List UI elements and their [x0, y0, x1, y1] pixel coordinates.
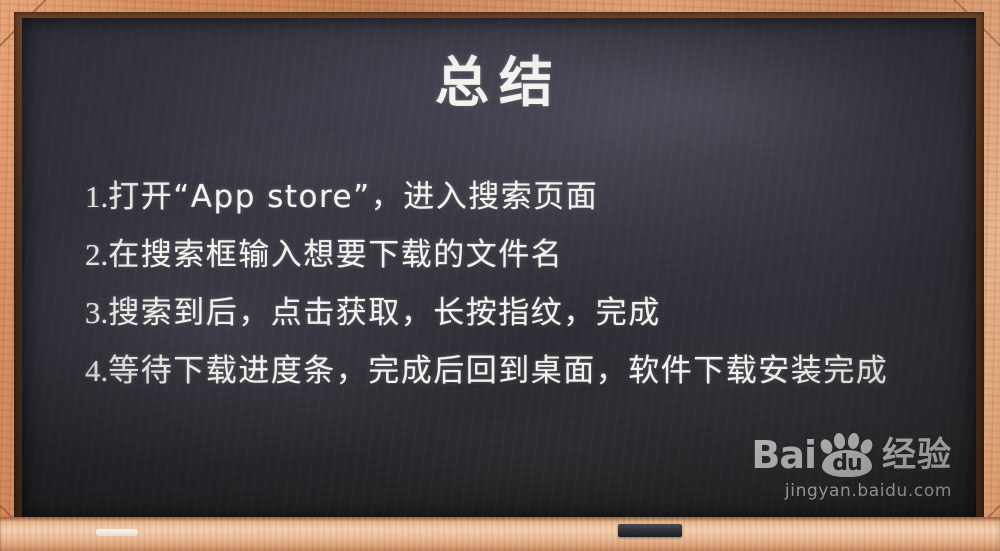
baidu-logo: Bai du 经验 — [751, 432, 952, 478]
chalk-stick — [96, 529, 138, 536]
list-item: 2.在搜索框输入想要下载的文件名 — [85, 226, 952, 284]
watermark-url: jingyan.baidu.com — [751, 481, 952, 501]
paw-print-icon: du — [818, 432, 876, 478]
list-item-text: 打开“App store”，进入搜索页面 — [108, 179, 598, 215]
baidu-jingyan-watermark: Bai du 经验 jingyan.baidu.com — [751, 432, 952, 501]
blackboard-eraser — [618, 524, 682, 537]
list-item-index: 4. — [85, 353, 108, 388]
list-item-index: 2. — [85, 237, 108, 272]
list-item-text: 搜索到后，点击获取，长按指纹，完成 — [108, 295, 661, 331]
paw-toe-icon — [833, 432, 846, 449]
list-item-index: 3. — [85, 295, 108, 330]
summary-step-list: 1.打开“App store”，进入搜索页面 2.在搜索框输入想要下载的文件名 … — [85, 168, 952, 400]
chalkboard-slide: 总结 1.打开“App store”，进入搜索页面 2.在搜索框输入想要下载的文… — [0, 0, 1000, 551]
page-title: 总结 — [22, 56, 976, 110]
paw-toe-icon — [847, 432, 860, 449]
list-item: 3.搜索到后，点击获取，长按指纹，完成 — [85, 284, 952, 342]
list-item: 1.打开“App store”，进入搜索页面 — [85, 168, 952, 226]
list-item: 4.等待下载进度条，完成后回到桌面，软件下载安装完成 — [85, 342, 952, 400]
chalk-ledge — [0, 517, 1000, 551]
list-item-text: 在搜索框输入想要下载的文件名 — [108, 237, 563, 273]
baidu-wordmark-cn: 经验 — [882, 438, 952, 472]
chalkboard-surface: 总结 1.打开“App store”，进入搜索页面 2.在搜索框输入想要下载的文… — [22, 18, 976, 519]
list-item-index: 1. — [85, 179, 108, 214]
list-item-text: 等待下载进度条，完成后回到桌面，软件下载安装完成 — [108, 353, 888, 389]
baidu-wordmark-latin: Bai — [751, 436, 816, 474]
baidu-wordmark-du: du — [818, 453, 876, 475]
ledge-grain-texture — [0, 517, 1000, 551]
